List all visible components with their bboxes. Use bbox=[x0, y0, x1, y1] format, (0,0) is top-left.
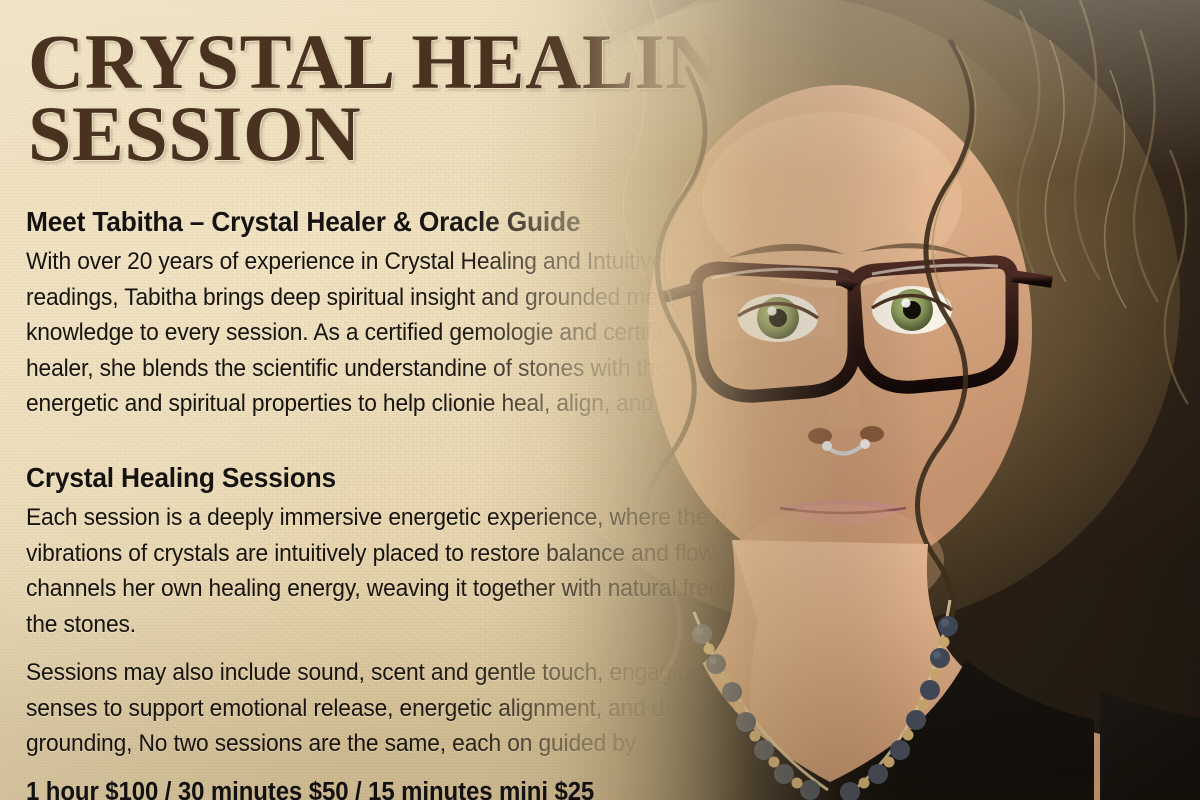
sessions-paragraph-1: Each session is a deeply immersive energ… bbox=[26, 500, 844, 642]
text-content: CRYSTAL HEALING SESSION Meet Tabitha – C… bbox=[0, 0, 1200, 800]
sessions-heading: Crystal Healing Sessions bbox=[26, 462, 853, 493]
intro-block: Meet Tabitha – Crystal Healer & Oracle G… bbox=[26, 206, 826, 435]
title-line-2: SESSION bbox=[28, 98, 888, 170]
intro-heading: Meet Tabitha – Crystal Healer & Oracle G… bbox=[26, 206, 778, 237]
title-line-1: CRYSTAL HEALING bbox=[28, 26, 888, 98]
intro-paragraph: With over 20 years of experience in Crys… bbox=[26, 244, 770, 422]
sessions-paragraph-2: Sessions may also include sound, scent a… bbox=[26, 655, 844, 762]
flyer-canvas: CRYSTAL HEALING SESSION Meet Tabitha – C… bbox=[0, 0, 1200, 800]
page-title: CRYSTAL HEALING SESSION bbox=[28, 26, 888, 170]
sessions-block: Crystal Healing Sessions Each session is… bbox=[26, 462, 906, 800]
pricing-line: 1 hour $100 / 30 minutes $50 / 15 minute… bbox=[26, 775, 853, 800]
